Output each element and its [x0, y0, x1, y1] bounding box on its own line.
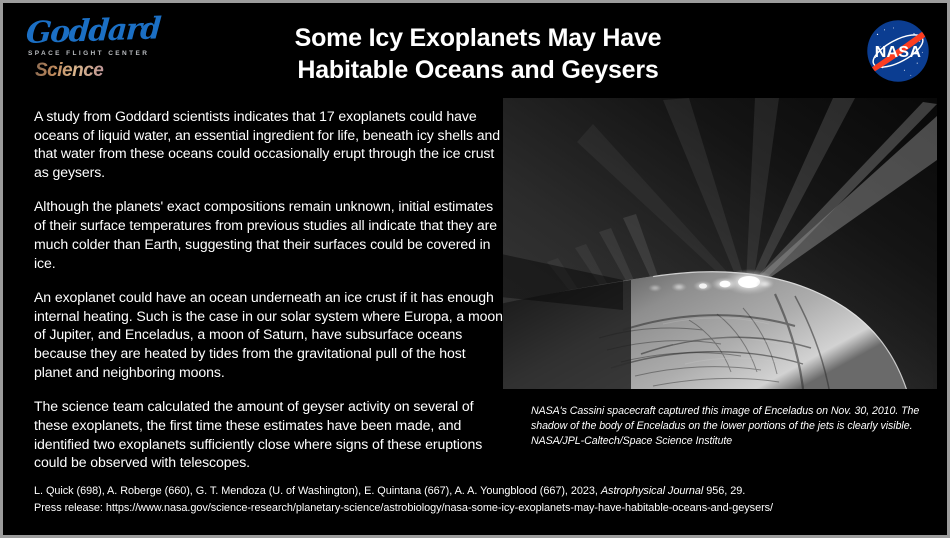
infographic-poster: Goddard SPACE FLIGHT CENTER Science Some…: [0, 0, 950, 538]
paragraph-1: A study from Goddard scientists indicate…: [34, 107, 504, 182]
science-wordmark: Science: [35, 60, 181, 82]
press-release-url[interactable]: https://www.nasa.gov/science-research/pl…: [106, 502, 773, 514]
paragraph-2: Although the planets' exact compositions…: [34, 197, 504, 272]
svg-text:NASA: NASA: [875, 44, 922, 61]
poster-header: Goddard SPACE FLIGHT CENTER Science Some…: [3, 3, 947, 98]
article-body: A study from Goddard scientists indicate…: [34, 107, 504, 487]
paragraph-4: The science team calculated the amount o…: [34, 397, 504, 472]
page-title-line-2: Habitable Oceans and Geysers: [213, 55, 743, 87]
poster-footer: L. Quick (698), A. Roberge (660), G. T. …: [34, 483, 924, 517]
press-release-label: Press release:: [34, 502, 106, 514]
citation-line: L. Quick (698), A. Roberge (660), G. T. …: [34, 483, 924, 500]
page-title: Some Icy Exoplanets May Have Habitable O…: [213, 23, 743, 86]
paragraph-3: An exoplanet could have an ocean underne…: [34, 288, 504, 382]
enceladus-photo-block: [503, 98, 937, 389]
citation-journal: Astrophysical Journal: [601, 485, 703, 497]
press-release-line: Press release: https://www.nasa.gov/scie…: [34, 500, 924, 517]
citation-volume: 956, 29.: [703, 485, 745, 497]
photo-caption: NASA's Cassini spacecraft captured this …: [531, 404, 921, 449]
citation-authors: L. Quick (698), A. Roberge (660), G. T. …: [34, 485, 601, 497]
page-title-line-1: Some Icy Exoplanets May Have: [213, 23, 743, 55]
goddard-science-logo: Goddard SPACE FLIGHT CENTER Science: [21, 19, 181, 81]
nasa-meatball-icon: NASA: [866, 19, 930, 83]
goddard-subtitle: SPACE FLIGHT CENTER: [28, 50, 181, 57]
goddard-wordmark: Goddard: [25, 14, 184, 49]
enceladus-image: [503, 98, 937, 389]
